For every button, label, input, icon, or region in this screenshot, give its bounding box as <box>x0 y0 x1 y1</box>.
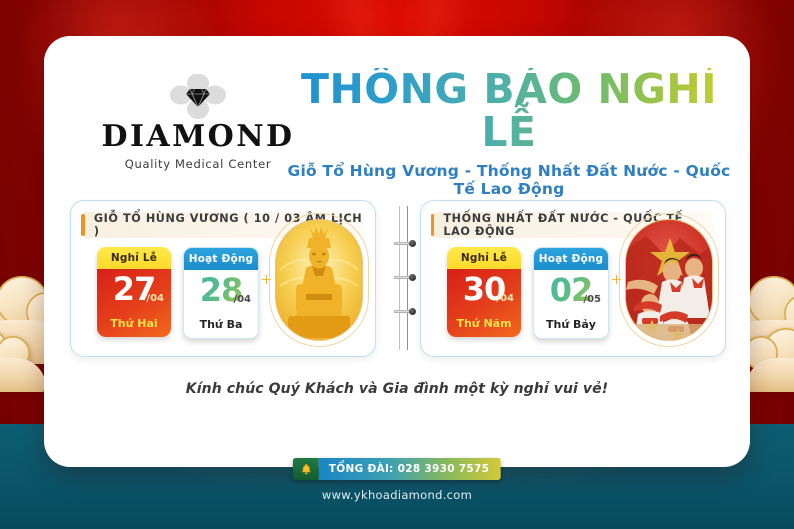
brand-tagline: Quality Medical Center <box>96 157 300 171</box>
tile-body: 30 /04 Thứ Năm <box>447 269 521 337</box>
tile-weekday: Thứ Năm <box>447 317 521 330</box>
binding-ring <box>394 308 416 315</box>
tile-label: Nghỉ Lễ <box>97 247 171 269</box>
brand-logo: DIAMOND Quality Medical Center <box>96 74 300 171</box>
tile-body: 27 /04 Thứ Hai <box>97 269 171 337</box>
tile-label: Hoạt Động <box>534 248 608 270</box>
diamond-flower-icon <box>166 74 230 120</box>
page-subtitle: Giỗ Tổ Hùng Vương - Thống Nhất Đất Nước … <box>276 162 742 198</box>
tile-label: Hoạt Động <box>184 248 258 270</box>
brand-name: DIAMOND <box>96 122 300 152</box>
tile-label: Nghỉ Lễ <box>447 247 521 269</box>
date-tile-holiday: Nghỉ Lễ 27 /04 Thứ Hai <box>97 247 171 337</box>
tile-month: /05 <box>583 294 601 305</box>
heading-accent-bar <box>431 214 434 236</box>
tile-month: /04 <box>146 293 164 304</box>
victory-poster-illustration <box>625 219 713 341</box>
hung-king-statue-illustration <box>275 219 363 341</box>
tile-weekday: Thứ Bảy <box>534 318 608 331</box>
tile-month: /04 <box>496 293 514 304</box>
date-tile-working: Hoạt Động 02 /05 Thứ Bảy <box>533 247 609 339</box>
tile-weekday: Thứ Ba <box>184 318 258 331</box>
date-tile-holiday: Nghỉ Lễ 30 /04 Thứ Năm <box>447 247 521 337</box>
announcement-panel: DIAMOND Quality Medical Center THÔNG BÁO… <box>44 36 750 467</box>
tile-weekday: Thứ Hai <box>97 317 171 330</box>
website-url[interactable]: www.ykhoadiamond.com <box>0 488 794 502</box>
tile-month: /04 <box>233 294 251 305</box>
panel-header: DIAMOND Quality Medical Center THÔNG BÁO… <box>44 58 750 190</box>
holiday-card-reunification: THỐNG NHẤT ĐẤT NƯỚC - QUỐC TẾ LAO ĐỘNG N… <box>420 200 726 357</box>
date-tiles-left: Nghỉ Lễ 27 /04 Thứ Hai Hoạt Động 28 /04 … <box>97 247 259 339</box>
binding-ring <box>394 274 416 281</box>
binding-ring <box>394 240 416 247</box>
heading-accent-bar <box>81 214 85 236</box>
spiral-binding <box>392 206 418 350</box>
holiday-cards-group: GIỖ TỔ HÙNG VƯƠNG ( 10 / 03 ÂM LỊCH ) Ng… <box>70 200 724 355</box>
bell-icon <box>293 458 319 480</box>
hotline-badge[interactable]: TỔNG ĐÀI: 028 3930 7575 <box>293 458 501 480</box>
page-title: THÔNG BÁO NGHỈ LỄ <box>276 68 742 155</box>
title-block: THÔNG BÁO NGHỈ LỄ THÔNG BÁO NGHỈ LỄ Giỗ … <box>276 68 742 198</box>
date-tile-working: Hoạt Động 28 /04 Thứ Ba <box>183 247 259 339</box>
holiday-card-hung-king: GIỖ TỔ HÙNG VƯƠNG ( 10 / 03 ÂM LỊCH ) Ng… <box>70 200 376 357</box>
wish-message: Kính chúc Quý Khách và Gia đình một kỳ n… <box>44 381 750 397</box>
tile-body: 02 /05 Thứ Bảy <box>534 270 608 338</box>
poster-canvas: DIAMOND Quality Medical Center THÔNG BÁO… <box>0 0 794 529</box>
date-tiles-right: Nghỉ Lễ 30 /04 Thứ Năm Hoạt Động 02 /05 … <box>447 247 609 339</box>
hotline-text: TỔNG ĐÀI: 028 3930 7575 <box>319 458 501 480</box>
tile-body: 28 /04 Thứ Ba <box>184 270 258 338</box>
